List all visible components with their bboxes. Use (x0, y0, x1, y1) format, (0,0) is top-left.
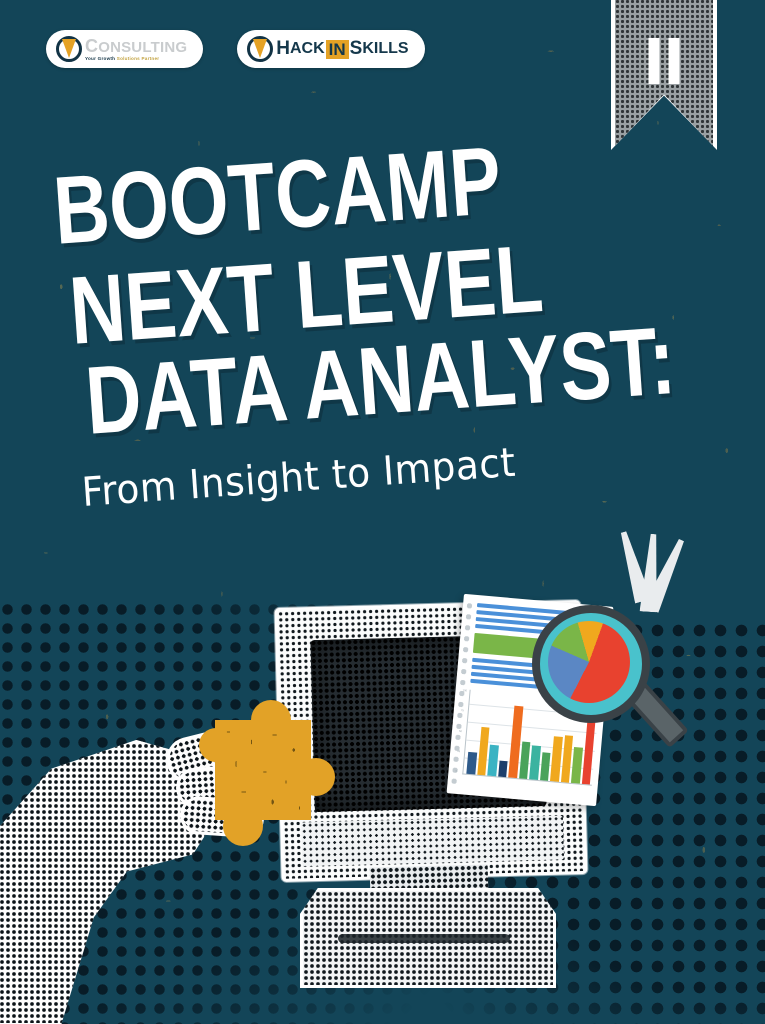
bar-chart-bar (571, 747, 583, 783)
hackinskills-highlight-in: IN (326, 40, 349, 59)
hackinskills-part1-rest: ACK (290, 40, 325, 58)
v-circle-icon (56, 36, 82, 62)
vconsulting-tagline-rest: Solutions Partner (117, 56, 160, 61)
bookmark-ribbon (615, 0, 713, 146)
bar-chart-bar (466, 752, 476, 774)
report-pie-chart (548, 621, 630, 703)
bar-chart-bar (581, 714, 596, 785)
puzzle-texture (215, 720, 311, 820)
monitor-bezel-bottom (301, 816, 564, 867)
vconsulting-tagline-lead: Your Growth (85, 56, 115, 61)
magnifying-glass (532, 605, 650, 723)
puzzle-piece (205, 702, 327, 842)
v-circle-icon (247, 36, 273, 62)
pause-bars-icon (649, 38, 680, 84)
hackinskills-logo[interactable]: HACKINSKILLS (237, 30, 424, 68)
bar-chart-bar (540, 752, 551, 781)
bar-chart-bar (529, 745, 540, 780)
vconsulting-word-rest: ONSULTING (98, 39, 187, 56)
hackinskills-part2-lead: S (350, 38, 363, 60)
logo-row: CONSULTING Your Growth Solutions Partner… (46, 30, 425, 68)
vconsulting-tagline: Your Growth Solutions Partner (85, 57, 187, 62)
bar-chart-bar (487, 744, 498, 776)
hackinskills-part1-lead: H (276, 38, 290, 60)
vconsulting-logo-text: CONSULTING Your Growth Solutions Partner (85, 37, 187, 62)
bar-chart-bar (498, 761, 508, 777)
vconsulting-logo[interactable]: CONSULTING Your Growth Solutions Partner (46, 30, 203, 68)
vconsulting-word-lead: C (85, 36, 98, 56)
poster-canvas: CONSULTING Your Growth Solutions Partner… (0, 0, 765, 1024)
hackinskills-logo-text: HACKINSKILLS (276, 38, 408, 60)
hackinskills-part2-rest: KILLS (362, 40, 408, 58)
monitor-vent (338, 934, 510, 943)
